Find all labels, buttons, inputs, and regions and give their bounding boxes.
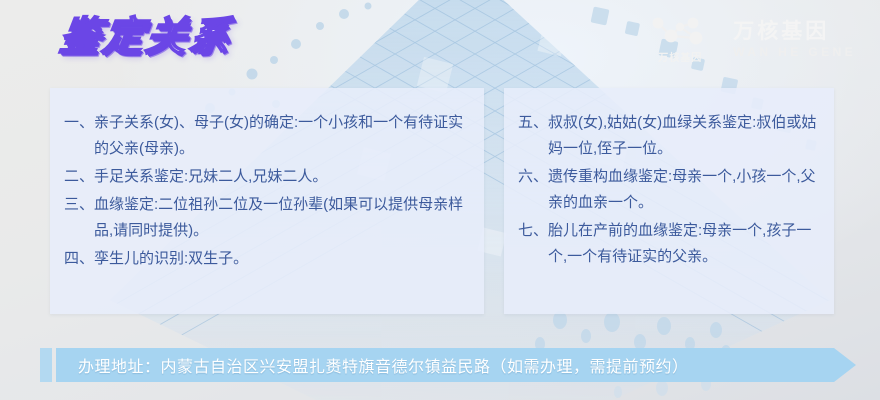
- list-item-number: 六、: [518, 164, 548, 216]
- molecule-node-icon: [649, 14, 711, 50]
- list-item-text: 亲子关系(女)、母子(女)的确定:一个小孩和一个有待证实的父亲(母亲)。: [94, 110, 468, 162]
- address-bar-cap: [40, 348, 52, 382]
- list-item-number: 三、: [64, 192, 94, 244]
- brand-name-cn: 万核基因: [733, 20, 829, 44]
- list-item-number: 七、: [518, 218, 548, 270]
- panel-right: 五、 叔叔(女),姑姑(女)血绿关系鉴定:叔伯或姑妈一位,侄子一位。 六、 遗传…: [504, 88, 834, 314]
- list-item-number: 四、: [64, 246, 94, 272]
- list-item-text: 血缘鉴定:二位祖孙二位及一位孙辈(如果可以提供母亲样品,请同时提供)。: [94, 192, 468, 244]
- address-bar: 办理地址：内蒙古自治区兴安盟扎赉特旗音德尔镇益民路（如需办理，需提前预约）: [40, 348, 856, 382]
- address-bar-body: 办理地址：内蒙古自治区兴安盟扎赉特旗音德尔镇益民路（如需办理，需提前预约）: [56, 348, 856, 382]
- list-item-number: 五、: [518, 110, 548, 162]
- list-item: 六、 遗传重构血缘鉴定:母亲一个,小孩一个,父亲的血亲一个。: [518, 164, 818, 216]
- poster-canvas: 鉴定关系 万核基因: [0, 0, 880, 400]
- panel-left: 一、 亲子关系(女)、母子(女)的确定:一个小孩和一个有待证实的父亲(母亲)。 …: [50, 88, 484, 314]
- page-title: 鉴定关系: [57, 14, 235, 60]
- list-item-text: 胎儿在产前的血缘鉴定:母亲一个,孩子一个,一个有待证实的父亲。: [548, 218, 818, 270]
- list-item: 七、 胎儿在产前的血缘鉴定:母亲一个,孩子一个,一个有待证实的父亲。: [518, 218, 818, 270]
- brand-name-en: WAN HE GENE: [733, 45, 856, 59]
- list-item-number: 一、: [64, 110, 94, 162]
- brand-wordmark: 万核基因 WAN HE GENE: [733, 20, 856, 59]
- list-item: 一、 亲子关系(女)、母子(女)的确定:一个小孩和一个有待证实的父亲(母亲)。: [64, 110, 468, 162]
- list-item-text: 叔叔(女),姑姑(女)血绿关系鉴定:叔伯或姑妈一位,侄子一位。: [548, 110, 818, 162]
- brand-mark: 万核基因: [649, 14, 711, 64]
- address-bar-text: 办理地址：内蒙古自治区兴安盟扎赉特旗音德尔镇益民路（如需办理，需提前预约）: [56, 353, 689, 377]
- content-panels: 一、 亲子关系(女)、母子(女)的确定:一个小孩和一个有待证实的父亲(母亲)。 …: [50, 88, 834, 314]
- list-item-text: 遗传重构血缘鉴定:母亲一个,小孩一个,父亲的血亲一个。: [548, 164, 818, 216]
- list-item-text: 孪生儿的识别:双生子。: [94, 246, 468, 272]
- list-item: 三、 血缘鉴定:二位祖孙二位及一位孙辈(如果可以提供母亲样品,请同时提供)。: [64, 192, 468, 244]
- list-item-number: 二、: [64, 164, 94, 190]
- list-item-text: 手足关系鉴定:兄妹二人,兄妹二人。: [94, 164, 468, 190]
- brand-mark-caption: 万核基因: [658, 53, 702, 64]
- brand-logo: 万核基因 万核基因 WAN HE GENE: [649, 14, 856, 64]
- list-item: 二、 手足关系鉴定:兄妹二人,兄妹二人。: [64, 164, 468, 190]
- list-item: 五、 叔叔(女),姑姑(女)血绿关系鉴定:叔伯或姑妈一位,侄子一位。: [518, 110, 818, 162]
- list-item: 四、 孪生儿的识别:双生子。: [64, 246, 468, 272]
